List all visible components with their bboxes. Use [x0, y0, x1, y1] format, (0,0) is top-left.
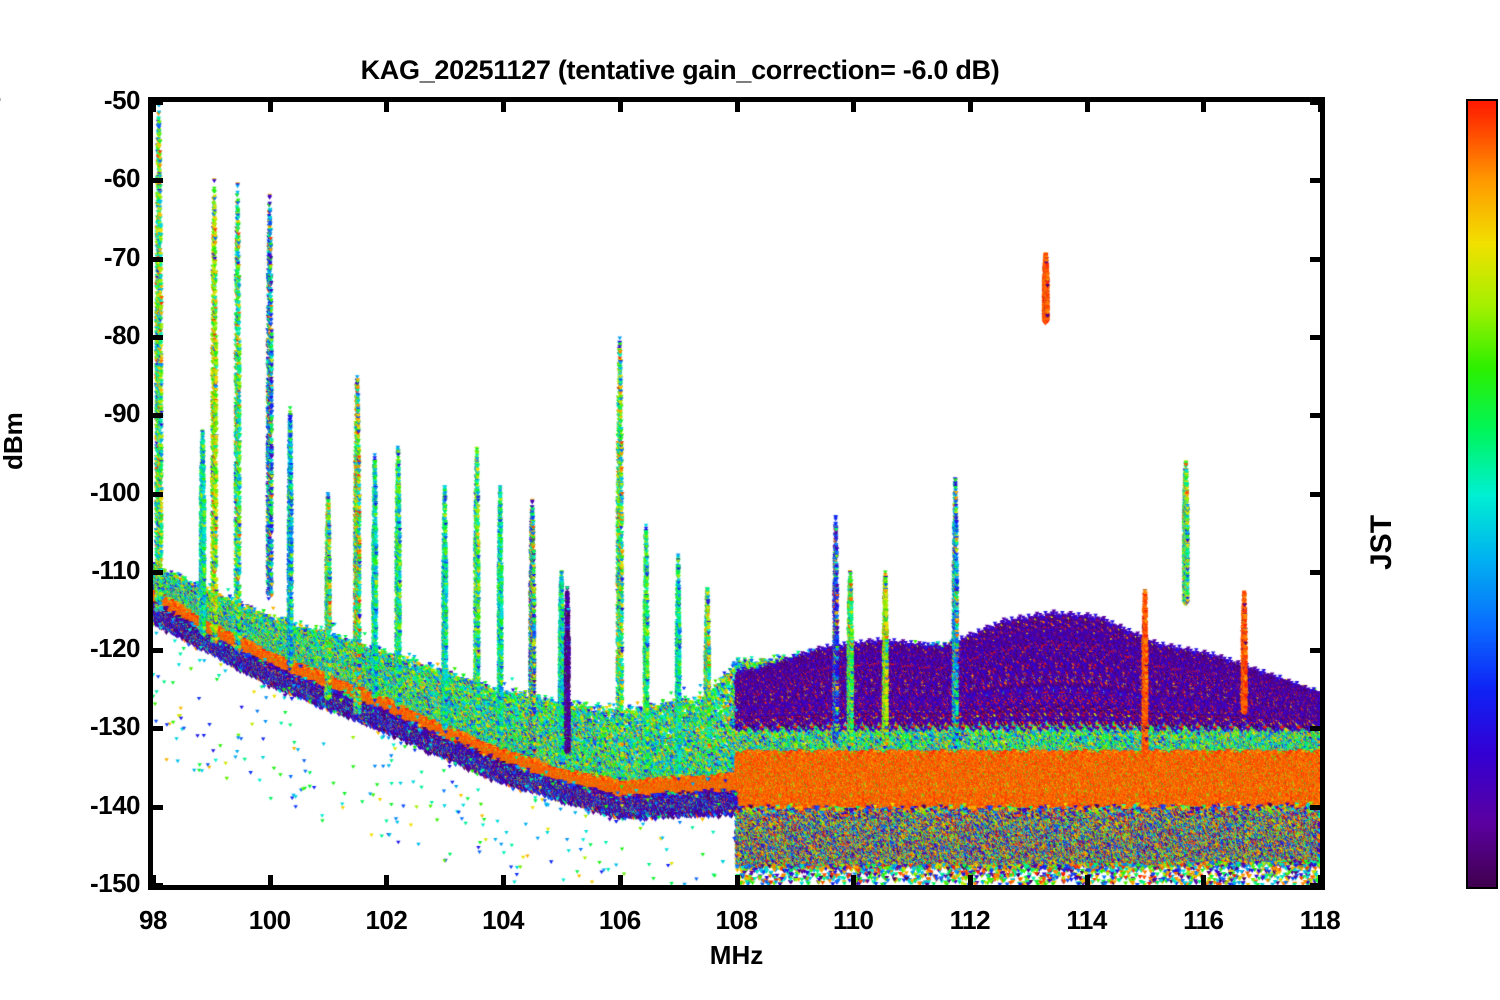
- x-tick-top: [851, 97, 856, 112]
- x-tick-label: 102: [326, 905, 446, 936]
- y-tick-right: [1310, 178, 1325, 183]
- x-tick: [735, 875, 740, 890]
- x-tick-label: 118: [1260, 905, 1380, 936]
- colorbar-gradient: [1468, 101, 1496, 887]
- y-tick: [148, 648, 163, 653]
- x-tick-label: 114: [1027, 905, 1147, 936]
- x-tick-top: [1201, 97, 1206, 112]
- y-tick-right: [1310, 335, 1325, 340]
- y-tick-right: [1310, 726, 1325, 731]
- spectrum-plot-page: KAG_20251127 (tentative gain_correction=…: [0, 0, 1500, 1000]
- x-tick: [501, 875, 506, 890]
- x-tick-label: 106: [560, 905, 680, 936]
- y-tick: [148, 178, 163, 183]
- colorbar: [1466, 99, 1498, 889]
- x-tick-label: 98: [93, 905, 213, 936]
- x-tick-top: [968, 97, 973, 112]
- x-tick-top: [384, 97, 389, 112]
- x-tick: [618, 875, 623, 890]
- x-tick: [1318, 875, 1323, 890]
- x-tick-label: 112: [910, 905, 1030, 936]
- y-tick-label: -60: [20, 163, 140, 194]
- y-tick-label: -130: [20, 711, 140, 742]
- x-tick-top: [1085, 97, 1090, 112]
- y-tick-right: [1310, 492, 1325, 497]
- x-axis-title: MHz: [148, 940, 1325, 971]
- y-tick: [148, 335, 163, 340]
- x-tick: [151, 875, 156, 890]
- x-tick: [851, 875, 856, 890]
- x-tick: [384, 875, 389, 890]
- y-tick: [148, 413, 163, 418]
- x-tick-top: [618, 97, 623, 112]
- x-tick-top: [268, 97, 273, 112]
- y-tick-right: [1310, 413, 1325, 418]
- x-tick: [268, 875, 273, 890]
- x-tick: [1085, 875, 1090, 890]
- x-tick: [968, 875, 973, 890]
- x-tick-top: [1318, 97, 1323, 112]
- x-tick-top: [501, 97, 506, 112]
- y-tick-label: -120: [20, 633, 140, 664]
- y-tick: [148, 570, 163, 575]
- plot-area: [148, 97, 1325, 890]
- y-tick-right: [1310, 805, 1325, 810]
- x-tick-label: 100: [210, 905, 330, 936]
- y-tick: [148, 726, 163, 731]
- x-tick-label: 104: [443, 905, 563, 936]
- colorbar-title: JST: [1365, 515, 1399, 570]
- y-tick-label: -70: [20, 242, 140, 273]
- y-tick: [148, 492, 163, 497]
- y-tick-right: [1310, 648, 1325, 653]
- page-title: KAG_20251127 (tentative gain_correction=…: [0, 55, 1360, 86]
- x-tick-label: 110: [793, 905, 913, 936]
- x-tick-top: [151, 97, 156, 112]
- x-tick-label: 116: [1143, 905, 1263, 936]
- y-tick-right: [1310, 570, 1325, 575]
- y-tick-label: -50: [20, 85, 140, 116]
- y-tick-label: -90: [20, 398, 140, 429]
- y-tick-label: -150: [20, 868, 140, 899]
- y-tick-right: [1310, 257, 1325, 262]
- y-tick-label: -110: [20, 555, 140, 586]
- y-tick: [148, 805, 163, 810]
- y-tick: [148, 257, 163, 262]
- x-tick-top: [735, 97, 740, 112]
- y-tick-label: -100: [20, 477, 140, 508]
- y-tick-label: -140: [20, 790, 140, 821]
- x-tick: [1201, 875, 1206, 890]
- x-tick-label: 108: [677, 905, 797, 936]
- spectrum-scatter-canvas: [153, 102, 1320, 885]
- y-tick-label: -80: [20, 320, 140, 351]
